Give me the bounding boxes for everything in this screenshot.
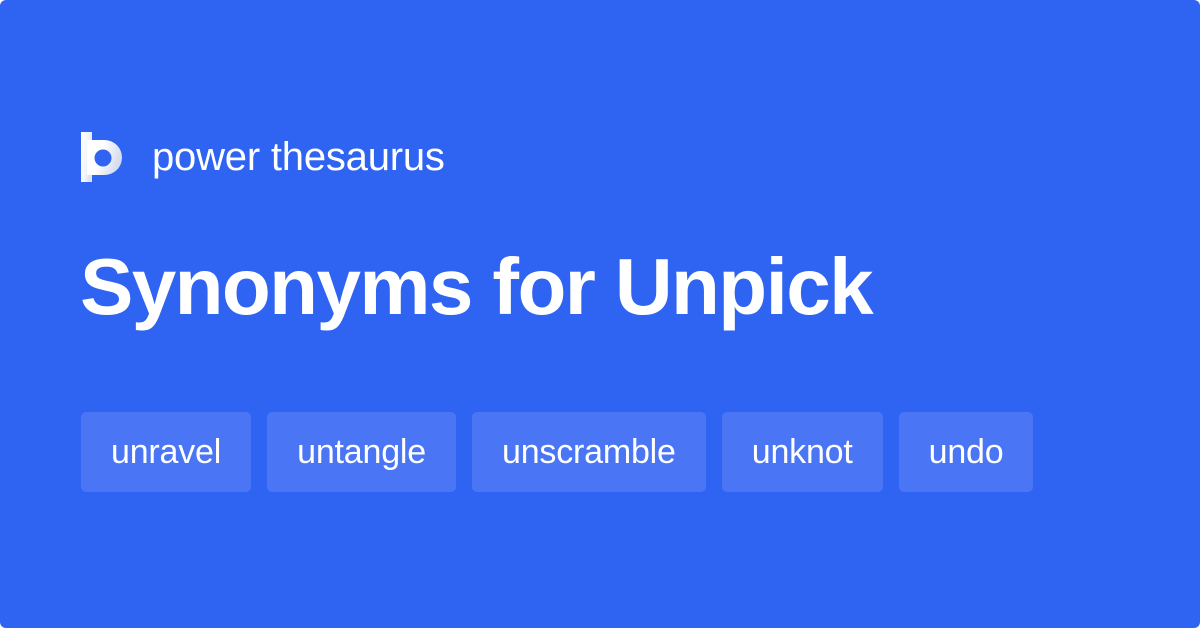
brand-lockup[interactable]: power thesaurus bbox=[81, 131, 445, 183]
synonym-chip[interactable]: unknot bbox=[722, 412, 883, 492]
synonym-chip-list: unravel untangle unscramble unknot undo bbox=[81, 412, 1033, 492]
synonym-chip[interactable]: undo bbox=[899, 412, 1034, 492]
synonym-chip[interactable]: unscramble bbox=[472, 412, 706, 492]
brand-name: power thesaurus bbox=[152, 137, 445, 177]
synonyms-share-card: power thesaurus Synonyms for Unpick unra… bbox=[0, 0, 1200, 628]
synonym-chip[interactable]: unravel bbox=[81, 412, 251, 492]
page-title: Synonyms for Unpick bbox=[80, 247, 872, 327]
power-thesaurus-logo-icon bbox=[81, 132, 128, 182]
synonym-chip[interactable]: untangle bbox=[267, 412, 456, 492]
